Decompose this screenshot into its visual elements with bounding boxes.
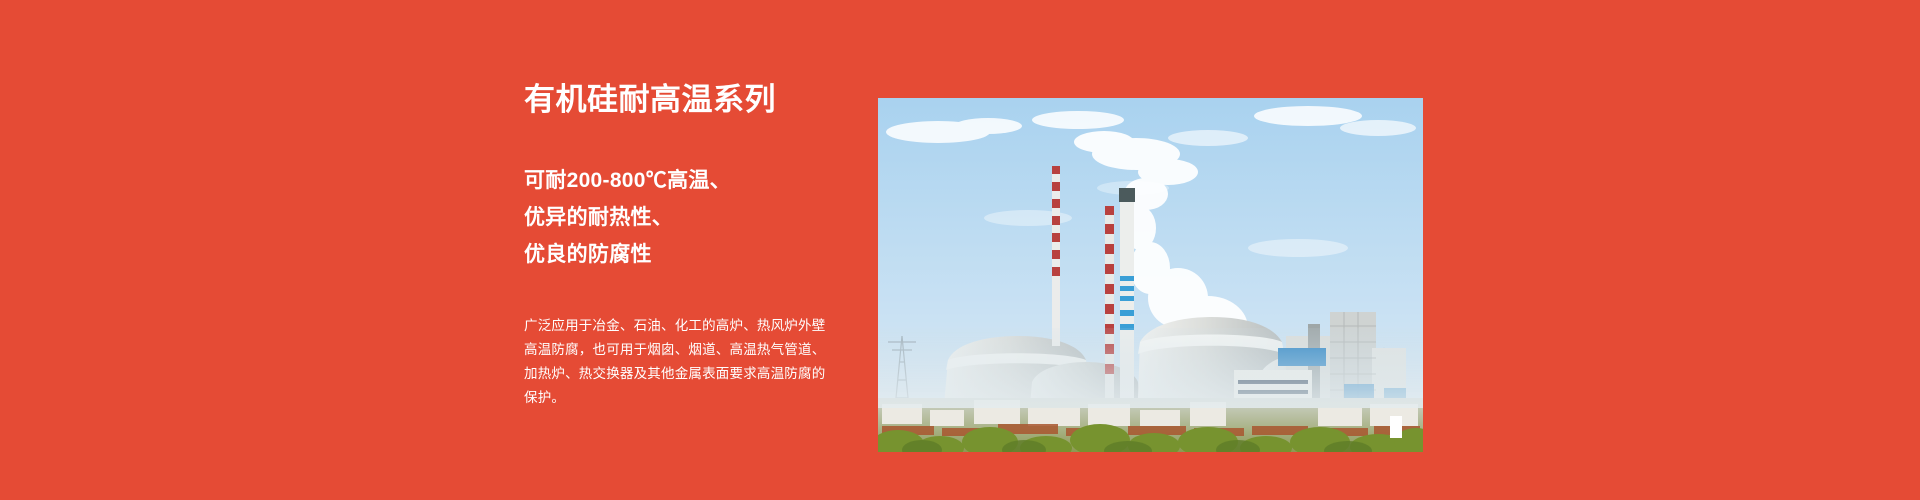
banner-content: 有机硅耐高温系列 可耐200-800℃高温、 优异的耐热性、 优良的防腐性 广泛…: [0, 0, 1920, 500]
feature-line-2: 优异的耐热性、: [524, 199, 844, 236]
description-paragraph: 广泛应用于冶金、石油、化工的高炉、热风炉外壁高温防腐，也可用于烟囱、烟道、高温热…: [524, 314, 832, 410]
promo-banner: 有机硅耐高温系列 可耐200-800℃高温、 优异的耐热性、 优良的防腐性 广泛…: [0, 0, 1920, 500]
feature-line-3: 优良的防腐性: [524, 236, 844, 273]
banner-text-block: 有机硅耐高温系列 可耐200-800℃高温、 优异的耐热性、 优良的防腐性 广泛…: [524, 80, 844, 424]
feature-list: 可耐200-800℃高温、 优异的耐热性、 优良的防腐性: [524, 162, 844, 273]
page-title: 有机硅耐高温系列: [524, 80, 844, 120]
power-plant-photo: [878, 98, 1423, 452]
power-plant-illustration: [878, 98, 1423, 452]
feature-line-1: 可耐200-800℃高温、: [524, 162, 844, 199]
